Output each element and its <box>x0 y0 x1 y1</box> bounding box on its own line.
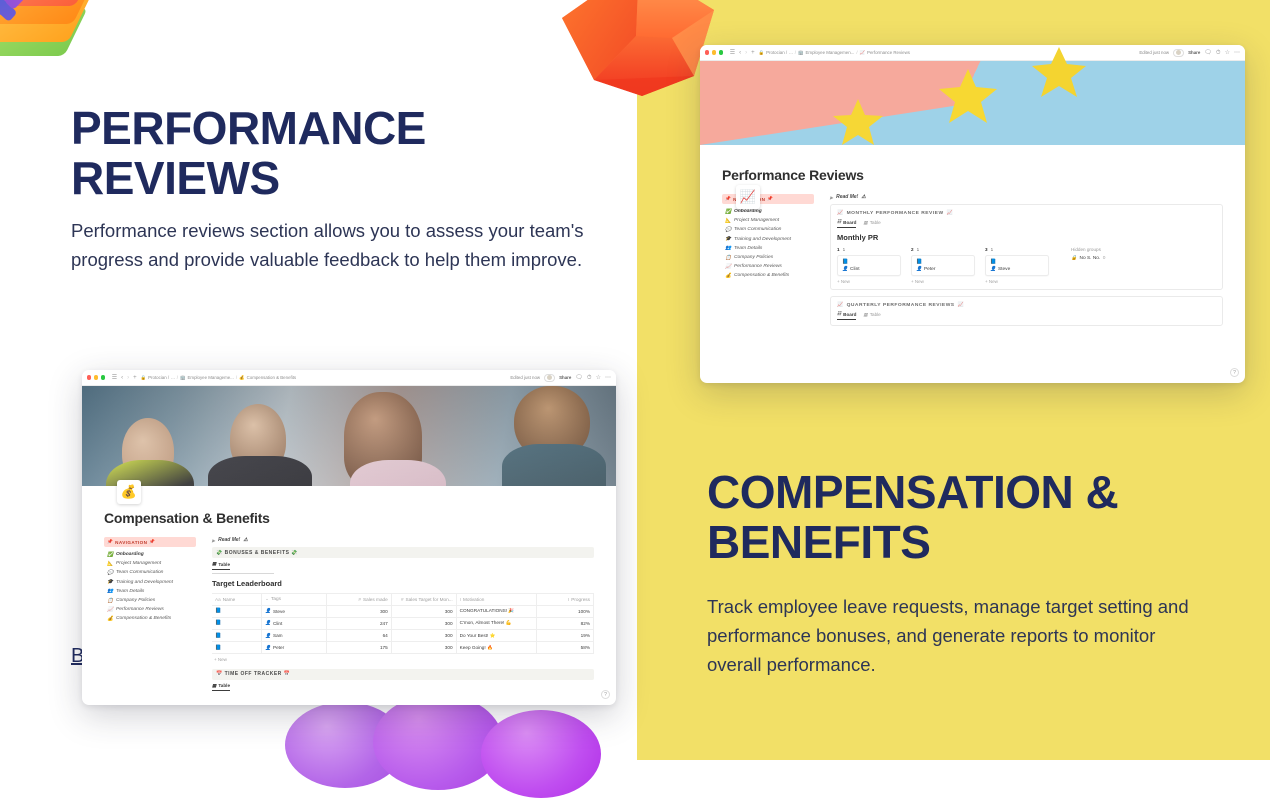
sidebar-item-company-policies[interactable]: 📋Company Policies <box>722 253 814 262</box>
sidebar-item-label: Team Communication <box>116 570 163 575</box>
chevron-right-icon[interactable]: ▶ <box>830 195 833 200</box>
breadcrumb-separator: / <box>236 375 237 380</box>
column-type-icon: # <box>358 597 361 602</box>
board-card-name: 👤Peter <box>916 267 970 272</box>
sidebar-item-compensation-benefits[interactable]: 💰Compensation & Benefits <box>722 271 814 280</box>
plus-icon[interactable]: + <box>133 375 137 381</box>
lock-icon: 🔒 <box>141 375 146 381</box>
monthly-performance-review-database[interactable]: 📈 MONTHLY PERFORMANCE REVIEW 📈 ☷ Board ▦… <box>830 204 1223 290</box>
performance-reviews-text-block: PERFORMANCE REVIEWS Performance reviews … <box>71 104 616 275</box>
chart-icon: 📈 <box>837 302 844 308</box>
page-cover-team-photo <box>82 386 616 486</box>
sidebar-item-team-communication[interactable]: 💬Team Communication <box>722 225 814 234</box>
table-row[interactable]: 📘👤Sam64300Do Your Best! ⭐19% <box>212 630 594 642</box>
database-view-tabs[interactable]: ▦ Table <box>212 561 594 570</box>
person-icon: 👤 <box>842 267 848 272</box>
nav-item-icon: 📋 <box>725 255 731 261</box>
column-type-icon: Aa <box>215 597 221 602</box>
perf-window-toolbar: ☰ ‹ › + 🔒 Protocian / ... / 🏢 Employee M… <box>700 45 1245 61</box>
person-icon: 👤 <box>265 633 271 639</box>
read-me-toggle[interactable]: ▶ Read Me! ⚠ <box>212 537 594 543</box>
sidebar-item-label: Onboarding <box>734 209 762 214</box>
cell-progress[interactable]: 58% <box>536 642 593 654</box>
chevron-left-icon[interactable]: ‹ <box>121 375 123 381</box>
money-flying-icon: 💸 <box>216 550 223 556</box>
chevron-right-icon[interactable]: ▶ <box>212 538 215 543</box>
comp-window-toolbar: ☰ ‹ › + 🔒 Protocian / ... / 🏢 Employee M… <box>82 370 616 386</box>
edited-status: Edited just now <box>1139 50 1169 55</box>
table-row[interactable]: 📘👤Peter175300Keep Going! 🔥58% <box>212 642 594 654</box>
cell-name[interactable]: 📘 <box>212 605 262 617</box>
window-controls[interactable] <box>705 50 726 54</box>
sidebar-item-team-details[interactable]: 👥Team Details <box>104 587 196 596</box>
cell-sales-made[interactable]: 175 <box>326 642 391 654</box>
board-column-header: 11 <box>837 247 901 252</box>
cell-tags[interactable]: 👤Steve <box>262 605 327 617</box>
tab-board[interactable]: ☷ Board <box>837 311 856 320</box>
close-window-button[interactable] <box>87 375 91 379</box>
sidebar-item-label: Project Management <box>116 561 161 566</box>
cell-sales-target[interactable]: 300 <box>391 617 456 629</box>
hidden-groups-section: Hidden groups 🔒No S. No.0 <box>1071 247 1105 285</box>
sidebar-item-training-and-development[interactable]: 🎓Training and Development <box>722 235 814 244</box>
sidebar-item-label: Performance Reviews <box>734 264 782 269</box>
database-view-tabs[interactable]: ☷ Board ▦ Table <box>837 219 1216 228</box>
share-button[interactable]: Share <box>1188 50 1200 55</box>
chart-icon: 📈 <box>860 50 865 56</box>
column-type-icon: # <box>401 597 404 602</box>
compensation-benefits-browser-window[interactable]: ☰ ‹ › + 🔒 Protocian / ... / 🏢 Employee M… <box>82 370 616 705</box>
cell-sales-made[interactable]: 64 <box>326 630 391 642</box>
comment-icon[interactable]: 🗨 <box>1204 50 1212 56</box>
cell-motivation[interactable]: Do Your Best! ⭐ <box>456 630 536 642</box>
window-controls[interactable] <box>87 375 108 379</box>
calendar-icon: 📅 <box>284 671 291 677</box>
column-header-sales-made[interactable]: #Sales made <box>326 593 391 605</box>
chevron-left-icon[interactable]: ‹ <box>739 50 741 56</box>
compensation-benefits-description: Track employee leave requests, manage ta… <box>707 593 1207 680</box>
performance-reviews-description: Performance reviews section allows you t… <box>71 217 616 275</box>
board-icon: ☷ <box>837 311 841 317</box>
column-type-icon: I <box>460 597 461 602</box>
breadcrumb-item-ellipsis[interactable]: ... <box>171 375 175 380</box>
nav-item-icon: 💰 <box>107 616 113 622</box>
edited-status: Edited just now <box>510 375 540 380</box>
board-card-name: 👤Steve <box>990 267 1044 272</box>
bonuses-benefits-callout: 💸 BONUSES & BENEFITS 💸 <box>212 547 594 558</box>
nav-item-icon: 💬 <box>725 227 731 233</box>
nav-item-icon: 📐 <box>725 218 731 224</box>
hamburger-icon[interactable]: ☰ <box>730 50 735 56</box>
table-icon: ▦ <box>212 683 216 689</box>
sidebar-item-label: Company Policies <box>734 255 773 260</box>
maximize-window-button[interactable] <box>719 50 723 54</box>
page-icon: 📘 <box>215 620 221 626</box>
tab-underline <box>212 573 274 574</box>
building-icon: 🏢 <box>180 375 185 381</box>
quarterly-performance-reviews-database[interactable]: 📈 QUARTERLY PERFORMANCE REVIEWS 📈 ☷ Boar… <box>830 296 1223 326</box>
money-icon: 💰 <box>239 375 244 381</box>
ellipsis-icon[interactable]: ⋯ <box>1234 50 1240 56</box>
sidebar-item-company-policies[interactable]: 📋Company Policies <box>104 596 196 605</box>
read-me-toggle[interactable]: ▶ Read Me! ⚠ <box>830 194 1223 200</box>
person-icon: 👤 <box>990 267 996 272</box>
board-column-header: 31 <box>985 247 1049 252</box>
hidden-groups-label: Hidden groups <box>1071 247 1105 252</box>
board-card-name: 👤Clint <box>842 267 896 272</box>
sidebar-item-label: Company Policies <box>116 598 155 603</box>
breadcrumb-item-current[interactable]: Performance Reviews <box>867 50 910 55</box>
avatar[interactable] <box>544 374 555 382</box>
pushpin-icon: 📌 <box>725 196 731 202</box>
page-icon: 📘 <box>842 259 896 265</box>
nav-item-icon: 📐 <box>107 561 113 567</box>
nav-item-icon: ✅ <box>725 209 731 215</box>
breadcrumb-item-employee-management[interactable]: Employee Managemen... <box>806 50 855 55</box>
sidebar-item-team-communication[interactable]: 💬Team Communication <box>104 568 196 577</box>
board-column[interactable]: 31📘👤Steve+ New <box>985 247 1049 285</box>
table-header-row: AaName⌄Tags#Sales made#Sales Target for … <box>212 593 594 605</box>
breadcrumb[interactable]: 🔒 Protocian / ... / 🏢 Employee Manageme.… <box>141 375 296 381</box>
page-icon: 📘 <box>990 259 1044 265</box>
board-card[interactable]: 📘👤Clint <box>837 255 901 277</box>
minimize-window-button[interactable] <box>712 50 716 54</box>
database-title: 📈 QUARTERLY PERFORMANCE REVIEWS 📈 <box>837 302 1216 308</box>
page-cover-stars <box>700 61 1245 145</box>
plus-icon[interactable]: + <box>751 50 755 56</box>
nav-item-icon: 👥 <box>725 245 731 251</box>
time-off-tracker-callout: 📅 TIME OFF TRACKER 📅 <box>212 669 594 680</box>
share-button[interactable]: Share <box>559 375 571 380</box>
lock-icon: 🔒 <box>1071 256 1077 261</box>
avatar[interactable] <box>1173 49 1184 57</box>
warning-icon: ⚠ <box>243 537 247 543</box>
add-new-row-button[interactable]: + New <box>212 654 594 662</box>
table-icon: ▦ <box>863 312 867 318</box>
nav-item-icon: 🎓 <box>107 579 113 585</box>
table-heading: Target Leaderboard <box>212 579 594 588</box>
sidebar-item-project-management[interactable]: 📐Project Management <box>104 559 196 568</box>
sidebar-item-onboarding[interactable]: ✅Onboarding <box>722 207 814 216</box>
sidebar-item-performance-reviews[interactable]: 📈Performance Reviews <box>104 605 196 614</box>
cell-tags[interactable]: 👤Clint <box>262 617 327 629</box>
nav-item-icon: 💰 <box>725 273 731 279</box>
database-view-tabs[interactable]: ☷ Board ▦ Table <box>837 311 1216 320</box>
cell-progress[interactable]: 82% <box>536 617 593 629</box>
cell-sales-made[interactable]: 300 <box>326 605 391 617</box>
sidebar-item-label: Project Management <box>734 218 779 223</box>
sidebar-navigation: 📌 NAVIGATION 📌 ✅Onboarding📐Project Manag… <box>104 535 196 691</box>
performance-reviews-browser-window[interactable]: ☰ ‹ › + 🔒 Protocian / ... / 🏢 Employee M… <box>700 45 1245 383</box>
breadcrumb-item-workspace[interactable]: Protocian / <box>766 50 787 55</box>
board-column[interactable]: 21📘👤Peter+ New <box>911 247 975 285</box>
kanban-board: 11📘👤Clint+ New21📘👤Peter+ New31📘👤Steve+ N… <box>837 247 1216 285</box>
add-card-button[interactable]: + New <box>837 279 901 284</box>
person-icon: 👤 <box>265 645 271 651</box>
maximize-window-button[interactable] <box>101 375 105 379</box>
table-icon: ▦ <box>212 561 216 567</box>
tab-table[interactable]: ▦ Table <box>863 219 880 228</box>
breadcrumb-item-workspace[interactable]: Protocian / <box>148 375 169 380</box>
nav-item-icon: 📈 <box>107 607 113 613</box>
clock-icon[interactable]: ⏱ <box>1216 50 1221 56</box>
plus-icon: + <box>214 657 217 662</box>
help-button[interactable]: ? <box>601 690 610 699</box>
cell-progress[interactable]: 19% <box>536 630 593 642</box>
hidden-group-item[interactable]: 🔒No S. No.0 <box>1071 256 1105 261</box>
person-icon: 👤 <box>916 267 922 272</box>
cell-sales-target[interactable]: 300 <box>391 605 456 617</box>
nav-item-icon: 🎓 <box>725 236 731 242</box>
sidebar-item-team-details[interactable]: 👥Team Details <box>722 244 814 253</box>
breadcrumb[interactable]: 🔒 Protocian / ... / 🏢 Employee Managemen… <box>759 50 910 56</box>
pushpin-icon: 📌 <box>767 196 773 202</box>
board-icon: ☷ <box>837 219 841 225</box>
star-icon[interactable]: ☆ <box>596 375 601 381</box>
column-header-progress[interactable]: IProgress <box>536 593 593 605</box>
cell-sales-made[interactable]: 247 <box>326 617 391 629</box>
cell-name[interactable]: 📘 <box>212 642 262 654</box>
navigation-header: 📌 NAVIGATION 📌 <box>104 537 196 547</box>
page-icon: 📘 <box>916 259 970 265</box>
board-card[interactable]: 📘👤Peter <box>911 255 975 277</box>
close-window-button[interactable] <box>705 50 709 54</box>
chart-icon: 📈 <box>958 302 965 308</box>
table-icon: ▦ <box>863 220 867 226</box>
building-icon: 🏢 <box>798 50 803 56</box>
board-heading: Monthly PR <box>837 233 1216 242</box>
cell-name[interactable]: 📘 <box>212 630 262 642</box>
compensation-benefits-text-block: COMPENSATION & BENEFITS Track employee l… <box>707 468 1207 680</box>
column-type-icon: ⌄ <box>265 596 269 601</box>
sidebar-item-label: Performance Reviews <box>116 607 164 612</box>
calendar-icon: 📅 <box>216 671 223 677</box>
sidebar-item-label: Onboarding <box>116 552 144 557</box>
column-header-motivation[interactable]: IMotivation <box>456 593 536 605</box>
board-column[interactable]: 11📘👤Clint+ New <box>837 247 901 285</box>
page-title-performance-reviews: PERFORMANCE REVIEWS <box>71 104 616 203</box>
star-decoration <box>935 67 1001 125</box>
sidebar-item-label: Team Details <box>734 246 762 251</box>
cell-motivation[interactable]: CONGRATULATIONS! 🎉 <box>456 605 536 617</box>
cell-motivation[interactable]: Keep Going! 🔥 <box>456 642 536 654</box>
add-card-button[interactable]: + New <box>911 279 975 284</box>
nav-item-icon: 📋 <box>107 598 113 604</box>
tab-table[interactable]: ▦ Table <box>212 561 230 570</box>
column-header-tags[interactable]: ⌄Tags <box>262 593 327 605</box>
pushpin-icon: 📌 <box>107 539 113 545</box>
cell-tags[interactable]: 👤Sam <box>262 630 327 642</box>
cell-name[interactable]: 📘 <box>212 617 262 629</box>
sidebar-item-onboarding[interactable]: ✅Onboarding <box>104 550 196 559</box>
pushpin-icon: 📌 <box>149 539 155 545</box>
sidebar-item-training-and-development[interactable]: 🎓Training and Development <box>104 578 196 587</box>
page-icon: 📘 <box>215 633 221 639</box>
comment-icon[interactable]: 🗨 <box>575 375 583 381</box>
table-row[interactable]: 📘👤Clint247300C'mon, Almost There! 💪82% <box>212 617 594 629</box>
page-heading: Performance Reviews <box>722 167 1223 183</box>
cell-motivation[interactable]: C'mon, Almost There! 💪 <box>456 617 536 629</box>
breadcrumb-separator: / <box>795 50 796 55</box>
star-icon[interactable]: ☆ <box>1225 50 1230 56</box>
breadcrumb-item-employee-management[interactable]: Employee Manageme... <box>188 375 234 380</box>
read-me-label: Read Me! <box>218 537 240 543</box>
lock-icon: 🔒 <box>759 50 764 56</box>
add-card-button[interactable]: + New <box>985 279 1049 284</box>
person-icon: 👤 <box>265 620 271 626</box>
star-decoration <box>830 97 886 147</box>
board-column-header: 21 <box>911 247 975 252</box>
cell-tags[interactable]: 👤Peter <box>262 642 327 654</box>
sidebar-item-label: Compensation & Benefits <box>734 273 789 278</box>
sidebar-item-label: Compensation & Benefits <box>116 616 171 621</box>
breadcrumb-separator: / <box>177 375 178 380</box>
cell-sales-target[interactable]: 300 <box>391 642 456 654</box>
breadcrumb-separator: / <box>856 50 857 55</box>
tab-table[interactable]: ▦ Table <box>212 683 230 692</box>
money-bag-icon[interactable]: 💰 <box>117 480 141 504</box>
nav-item-icon: 📈 <box>725 264 731 270</box>
hamburger-icon[interactable]: ☰ <box>112 375 117 381</box>
sidebar-item-label: Training and Development <box>116 580 173 585</box>
money-flying-icon: 💸 <box>291 550 298 556</box>
page-heading: Compensation & Benefits <box>104 510 594 526</box>
sidebar-navigation: 📌 NAVIGATION 📌 ✅Onboarding📐Project Manag… <box>722 192 814 326</box>
database-title: 📈 MONTHLY PERFORMANCE REVIEW 📈 <box>837 210 1216 216</box>
tab-table[interactable]: ▦ Table <box>863 311 880 320</box>
sidebar-item-label: Team Details <box>116 589 144 594</box>
chart-icon: 📈 <box>947 210 954 216</box>
chart-icon: 📈 <box>837 210 844 216</box>
tab-board[interactable]: ☷ Board <box>837 219 856 228</box>
help-button[interactable]: ? <box>1230 368 1239 377</box>
board-card[interactable]: 📘👤Steve <box>985 255 1049 277</box>
page-icon: 📘 <box>215 645 221 651</box>
page-icon: 📘 <box>215 608 221 614</box>
database-view-tabs[interactable]: ▦ Table <box>212 683 594 692</box>
sidebar-item-compensation-benefits[interactable]: 💰Compensation & Benefits <box>104 614 196 623</box>
column-header-name[interactable]: AaName <box>212 593 262 605</box>
chart-increasing-icon[interactable]: 📈 <box>736 185 760 209</box>
ellipsis-icon[interactable]: ⋯ <box>605 375 611 381</box>
person-icon: 👤 <box>265 608 271 614</box>
nav-item-icon: 💬 <box>107 570 113 576</box>
column-header-sales-target-for-mon[interactable]: #Sales Target for Mon... <box>391 593 456 605</box>
sidebar-item-label: Team Communication <box>734 227 781 232</box>
sidebar-item-performance-reviews[interactable]: 📈Performance Reviews <box>722 262 814 271</box>
sidebar-item-project-management[interactable]: 📐Project Management <box>722 216 814 225</box>
nav-item-icon: 👥 <box>107 588 113 594</box>
breadcrumb-item-ellipsis[interactable]: ... <box>789 50 793 55</box>
cell-progress[interactable]: 100% <box>536 605 593 617</box>
sidebar-item-label: Training and Development <box>734 237 791 242</box>
chevron-right-icon[interactable]: › <box>745 50 747 56</box>
page-title-compensation-benefits: COMPENSATION & BENEFITS <box>707 468 1207 567</box>
read-me-label: Read Me! <box>836 194 858 200</box>
clock-icon[interactable]: ⏱ <box>587 375 592 381</box>
star-decoration <box>1028 45 1090 99</box>
column-type-icon: I <box>568 597 569 602</box>
target-leaderboard-table[interactable]: AaName⌄Tags#Sales made#Sales Target for … <box>212 593 594 655</box>
nav-item-icon: ✅ <box>107 552 113 558</box>
warning-icon: ⚠ <box>861 194 865 200</box>
chevron-right-icon[interactable]: › <box>127 375 129 381</box>
minimize-window-button[interactable] <box>94 375 98 379</box>
breadcrumb-item-current[interactable]: Compensation & Benefits <box>247 375 297 380</box>
table-row[interactable]: 📘👤Steve300300CONGRATULATIONS! 🎉100% <box>212 605 594 617</box>
cell-sales-target[interactable]: 300 <box>391 630 456 642</box>
